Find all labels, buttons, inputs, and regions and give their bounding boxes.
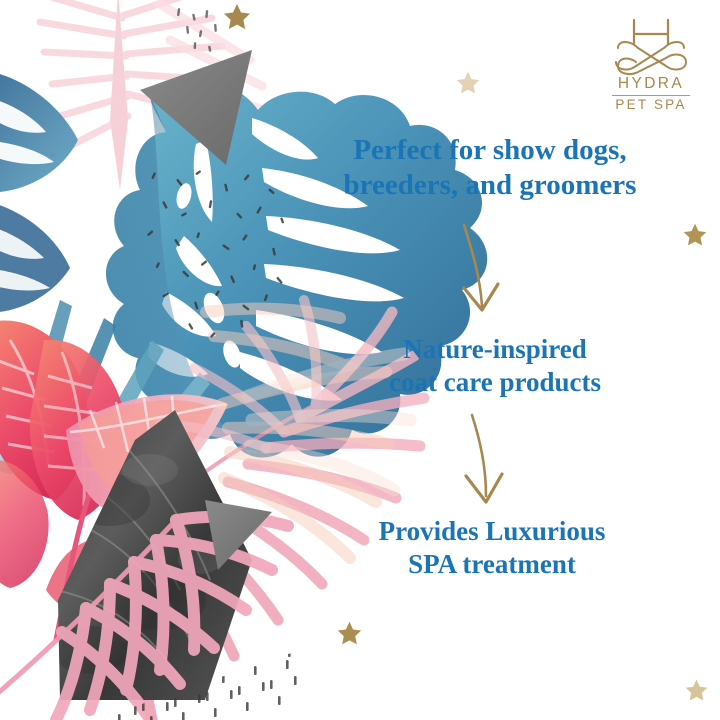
curved-down-arrow-icon-2 — [448, 412, 538, 516]
message-headline-3: Provides Luxurious SPA treatment — [312, 515, 672, 581]
star-top-mid-icon — [455, 70, 481, 96]
curved-down-arrow-icon-1 — [438, 222, 528, 326]
brand-subtitle: PET SPA — [596, 98, 706, 112]
message-headline-2: Nature-inspired coat care products — [330, 333, 660, 399]
star-right-upper-icon — [682, 222, 708, 248]
blue-leaf-left — [0, 70, 78, 313]
message-headline-1: Perfect for show dogs, breeders, and gro… — [300, 133, 680, 204]
brand-logo: HYDRA PET SPA — [596, 18, 706, 112]
hydra-h-ribbon-monogram-icon — [596, 18, 706, 76]
brand-name: HYDRA — [596, 76, 706, 93]
star-bottom-mid-icon — [336, 620, 363, 647]
logo-divider — [612, 95, 690, 96]
star-bottom-right-icon — [684, 678, 709, 703]
poster-canvas: HYDRA PET SPA Perfect for show dogs, bre… — [0, 0, 720, 720]
star-top-left-icon — [222, 2, 252, 32]
